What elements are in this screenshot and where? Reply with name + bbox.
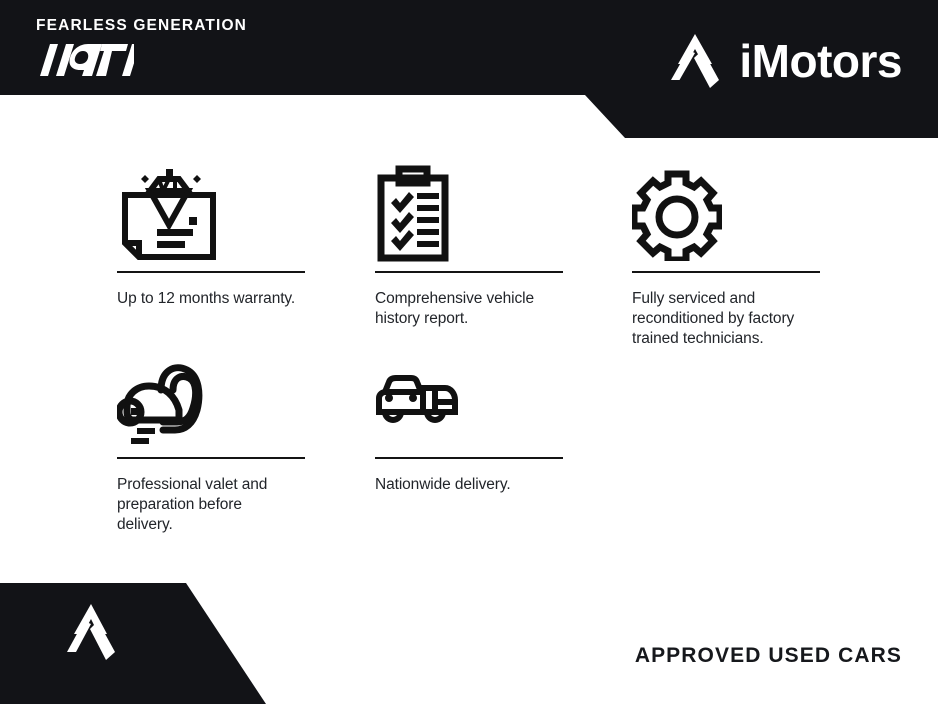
- feature-text: Professional valet and preparation befor…: [117, 475, 297, 534]
- feature-divider: [117, 457, 305, 459]
- fearless-generation-lockup: FEARLESS GENERATION: [36, 18, 356, 78]
- fearless-generation-label: FEARLESS GENERATION: [36, 18, 356, 34]
- feature-text: Up to 12 months warranty.: [117, 289, 297, 309]
- feature-item-history-report: Comprehensive vehicle history report.: [375, 162, 567, 329]
- feature-item-serviced: Fully serviced and reconditioned by fact…: [632, 162, 824, 348]
- imotors-brand-lockup: iMotors: [665, 30, 902, 92]
- feature-text: Comprehensive vehicle history report.: [375, 289, 555, 329]
- imotors-chevron-icon: [665, 30, 725, 92]
- feature-item-warranty: Up to 12 months warranty.: [117, 162, 309, 309]
- feature-item-valet: Professional valet and preparation befor…: [117, 348, 309, 534]
- feature-divider: [117, 271, 305, 273]
- warranty-certificate-diamond-icon: [117, 162, 309, 267]
- feature-item-delivery: Nationwide delivery.: [375, 348, 567, 495]
- feature-text: Nationwide delivery.: [375, 475, 555, 495]
- gear-cog-icon: [632, 162, 824, 267]
- feature-divider: [632, 271, 820, 273]
- approved-used-cars-tagline: APPROVED USED CARS: [635, 645, 902, 666]
- year-1971-logo: [36, 42, 134, 78]
- feature-divider: [375, 457, 563, 459]
- feature-grid: Up to 12 months warranty.: [0, 140, 938, 570]
- footer-banner: [0, 564, 300, 704]
- feature-divider: [375, 271, 563, 273]
- feature-text: Fully serviced and reconditioned by fact…: [632, 289, 808, 348]
- clipboard-checklist-icon: [375, 162, 567, 267]
- vacuum-cleaner-icon: [117, 348, 309, 453]
- car-transporter-truck-icon: [375, 348, 567, 453]
- footer-imotors-chevron-icon: [62, 600, 122, 664]
- advert-canvas: FEARLESS GENERATION: [0, 0, 938, 704]
- imotors-wordmark: iMotors: [739, 38, 902, 84]
